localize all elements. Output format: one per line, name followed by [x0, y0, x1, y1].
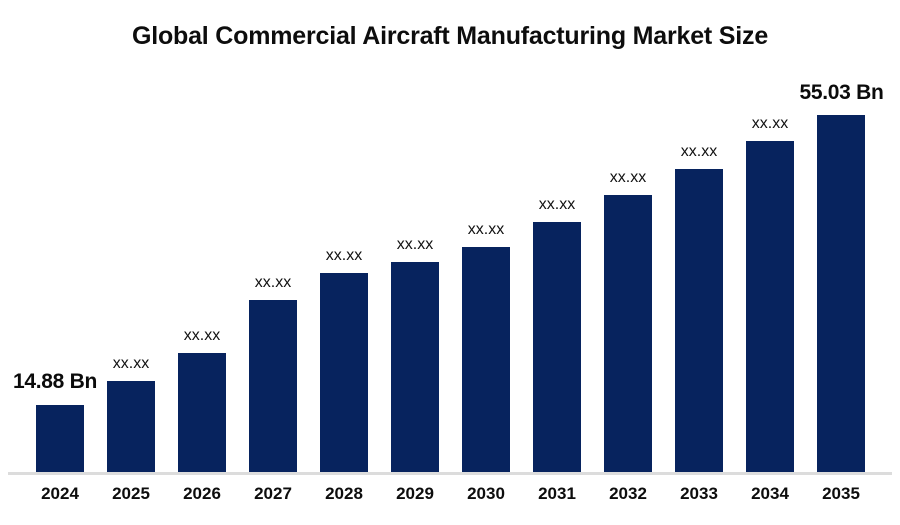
- bar-value-label-2031: xx.xx: [527, 196, 587, 214]
- bar-2031: [533, 222, 581, 472]
- bar-value-label-2024: 14.88 Bn: [13, 373, 108, 391]
- bar-value-label-2034: xx.xx: [740, 115, 800, 133]
- plot-area: 14.88 Bnxx.xxxx.xxxx.xxxx.xxxx.xxxx.xxxx…: [0, 0, 900, 525]
- bar-value-label-2027: xx.xx: [243, 274, 303, 292]
- bar-2032: [604, 195, 652, 472]
- category-label-2034: 2034: [746, 483, 794, 505]
- category-label-2028: 2028: [320, 483, 368, 505]
- bar-value-label-2033: xx.xx: [669, 143, 729, 161]
- category-label-2033: 2033: [675, 483, 723, 505]
- category-label-2026: 2026: [178, 483, 226, 505]
- bar-value-label-2029: xx.xx: [385, 236, 445, 254]
- bar-value-label-2032: xx.xx: [598, 169, 658, 187]
- bar-2024: [36, 405, 84, 472]
- category-label-2025: 2025: [107, 483, 155, 505]
- category-label-2031: 2031: [533, 483, 581, 505]
- bar-2030: [462, 247, 510, 472]
- bar-value-label-2035: 55.03 Bn: [793, 84, 890, 102]
- bar-chart-figure: Global Commercial Aircraft Manufacturing…: [0, 0, 900, 525]
- category-label-2029: 2029: [391, 483, 439, 505]
- category-label-2027: 2027: [249, 483, 297, 505]
- bar-value-label-2026: xx.xx: [172, 327, 232, 345]
- category-label-2024: 2024: [36, 483, 84, 505]
- bar-2033: [675, 169, 723, 472]
- category-label-2030: 2030: [462, 483, 510, 505]
- category-label-2035: 2035: [817, 483, 865, 505]
- bar-value-label-2030: xx.xx: [456, 221, 516, 239]
- x-axis-baseline: [8, 472, 892, 475]
- bar-2035: [817, 115, 865, 472]
- bar-value-label-2028: xx.xx: [314, 247, 374, 265]
- bar-value-label-2025: xx.xx: [101, 355, 161, 373]
- category-label-2032: 2032: [604, 483, 652, 505]
- bar-2029: [391, 262, 439, 472]
- bar-2034: [746, 141, 794, 472]
- bar-2028: [320, 273, 368, 472]
- bar-2025: [107, 381, 155, 472]
- bar-2027: [249, 300, 297, 472]
- bar-2026: [178, 353, 226, 472]
